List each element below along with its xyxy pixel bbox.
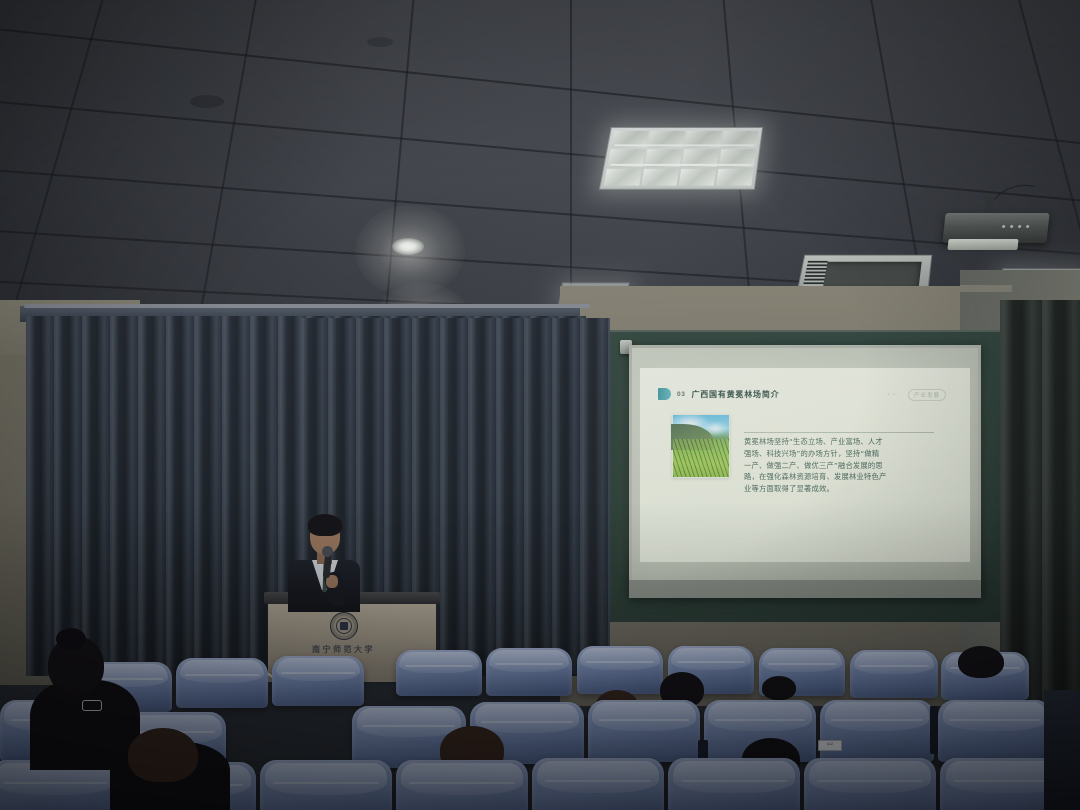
seat[interactable] [176, 658, 268, 708]
microphone-head [322, 546, 333, 557]
recessed-downlight [392, 238, 424, 255]
seat[interactable] [850, 650, 938, 698]
wall-trim [960, 285, 1012, 292]
smoke-detector-icon [367, 37, 393, 47]
slide-bullet-icon [658, 388, 671, 400]
slide-badge-dots: • • [888, 392, 896, 398]
projected-slide: 03 广西国有黄冕林场简介 • • 产业发展 黄冕林场坚持“生态立场、产业富场、… [640, 368, 970, 562]
slide-body-line: 强场、科技兴场”的办场方针，坚持“做精 [744, 448, 940, 460]
audience-head [128, 728, 198, 782]
seat[interactable] [588, 700, 700, 762]
slide-badge: 产业发展 [908, 389, 946, 401]
seat[interactable] [577, 646, 663, 694]
slide-body-line: 业等方面取得了显著成效。 [744, 483, 940, 495]
seat[interactable] [396, 650, 482, 696]
audience-head [958, 646, 1004, 678]
seat[interactable] [272, 656, 364, 706]
speaker-hair [308, 514, 342, 536]
slide-body-line: 路，在强化森林资源培育、发展林业特色产 [744, 471, 940, 483]
seat[interactable] [486, 648, 572, 696]
foreground-seat-edge [1044, 690, 1080, 810]
eyeglasses-icon [82, 700, 102, 711]
auditorium-photo: 03 广西国有黄冕林场简介 • • 产业发展 黄冕林场坚持“生态立场、产业富场、… [0, 0, 1080, 810]
screen-bottom-bar [629, 580, 981, 598]
seat[interactable] [668, 758, 800, 810]
audience-head [762, 676, 796, 700]
slide-photo [672, 414, 730, 478]
seat-divider [930, 706, 938, 754]
slide-section-number: 03 [677, 391, 685, 398]
slide-photo-forest-rows [673, 439, 729, 477]
smoke-detector-icon [190, 95, 224, 108]
slide-title: 广西国有黄冕林场简介 [691, 389, 779, 400]
slide-title-row: 03 广西国有黄冕林场简介 [658, 388, 779, 400]
university-crest-icon [330, 612, 358, 640]
seat[interactable] [260, 760, 392, 810]
curtain-rod [24, 304, 590, 308]
seat-number-plate: A12 [818, 740, 842, 751]
ceiling-light-fixture [599, 127, 763, 190]
seat[interactable] [804, 758, 936, 810]
seat[interactable] [820, 700, 934, 762]
slide-divider [744, 432, 934, 433]
seat[interactable] [396, 760, 528, 810]
slide-body-text: 黄冕林场坚持“生态立场、产业富场、人才 强场、科技兴场”的办场方针，坚持“做精 … [744, 436, 940, 495]
slide-body-line: 一产、做强二产、做优三产”融合发展的思 [744, 460, 940, 472]
seat[interactable] [532, 758, 664, 810]
projector-lens [947, 239, 1018, 250]
slide-body-line: 黄冕林场坚持“生态立场、产业富场、人才 [744, 436, 940, 448]
seat[interactable] [938, 700, 1052, 762]
audience-hair-bun [56, 628, 86, 650]
